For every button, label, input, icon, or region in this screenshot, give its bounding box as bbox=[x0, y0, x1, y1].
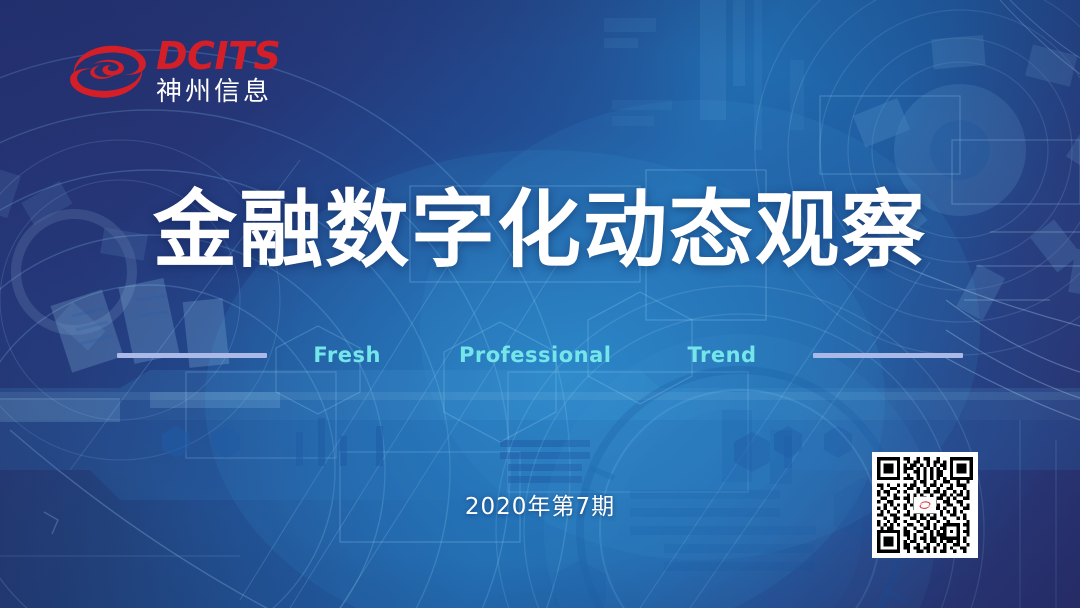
brand-name-latin: DCITS bbox=[156, 37, 280, 75]
wechat-qr-code[interactable] bbox=[872, 452, 978, 558]
page-title: 金融数字化动态观察 bbox=[0, 186, 1080, 274]
brand-name-chinese: 神州信息 bbox=[156, 79, 280, 105]
qr-center-logo bbox=[914, 497, 936, 513]
tagline-rule-right bbox=[813, 353, 963, 358]
tagline-word-professional: Professional bbox=[459, 343, 612, 367]
dcits-swirl-logo-icon-small bbox=[917, 500, 933, 510]
tagline-word-trend: Trend bbox=[687, 343, 756, 367]
dcits-swirl-logo-icon bbox=[66, 35, 150, 107]
tagline-row: Fresh Professional Trend bbox=[0, 338, 1080, 372]
tagline-rule-left bbox=[117, 353, 267, 358]
magazine-cover: DCITS 神州信息 金融数字化动态观察 Fresh Professional … bbox=[0, 0, 1080, 608]
brand-wordmark: DCITS 神州信息 bbox=[156, 37, 280, 105]
brand-logo[interactable]: DCITS 神州信息 bbox=[66, 32, 280, 110]
tagline-word-fresh: Fresh bbox=[313, 343, 381, 367]
